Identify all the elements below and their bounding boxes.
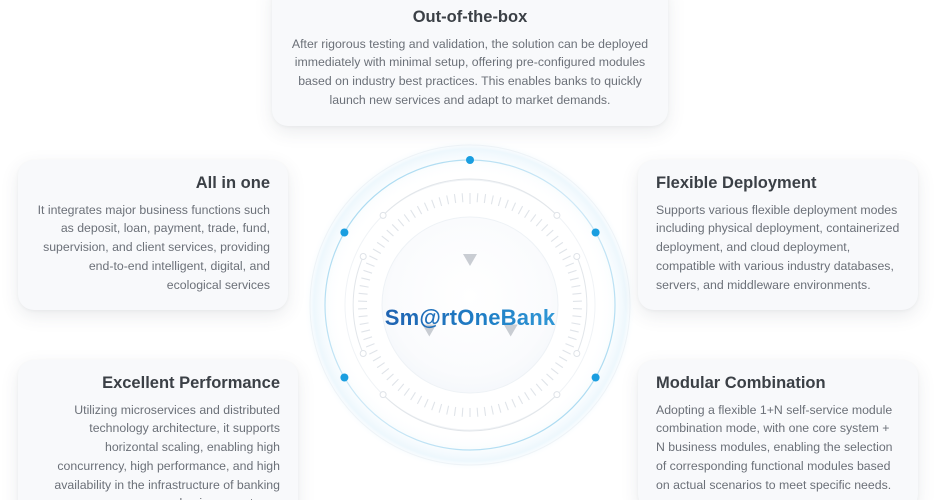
card-title: Modular Combination	[656, 374, 900, 394]
infographic-stage: Sm@rtOneBank Out-of-the-box After rigoro…	[0, 0, 941, 500]
card-title: Excellent Performance	[36, 374, 280, 394]
accent-dot-top	[466, 156, 474, 164]
feature-card-flexible-deployment[interactable]: Flexible Deployment Supports various fle…	[638, 160, 918, 310]
card-body: Supports various flexible deployment mod…	[656, 201, 900, 294]
accent-dot-lower-right	[592, 374, 600, 382]
brand-name: Sm@rtOneBank	[303, 305, 637, 331]
feature-card-excellent-performance[interactable]: Excellent Performance Utilizing microser…	[18, 360, 298, 500]
card-body: Utilizing microservices and distributed …	[36, 401, 280, 500]
feature-card-all-in-one[interactable]: All in one It integrates major business …	[18, 160, 288, 310]
card-body: Adopting a flexible 1+N self-service mod…	[656, 401, 900, 494]
card-body: After rigorous testing and validation, t…	[290, 35, 650, 110]
card-body: It integrates major business functions s…	[36, 201, 270, 294]
card-title: All in one	[36, 174, 270, 194]
feature-card-modular-combination[interactable]: Modular Combination Adopting a flexible …	[638, 360, 918, 500]
accent-dot-upper-left	[340, 229, 348, 237]
card-title: Out-of-the-box	[290, 8, 650, 28]
ring-accent-dots	[340, 156, 599, 382]
accent-dot-lower-left	[340, 374, 348, 382]
card-title: Flexible Deployment	[656, 174, 900, 194]
accent-dot-upper-right	[592, 229, 600, 237]
feature-card-out-of-the-box[interactable]: Out-of-the-box After rigorous testing an…	[272, 0, 668, 126]
